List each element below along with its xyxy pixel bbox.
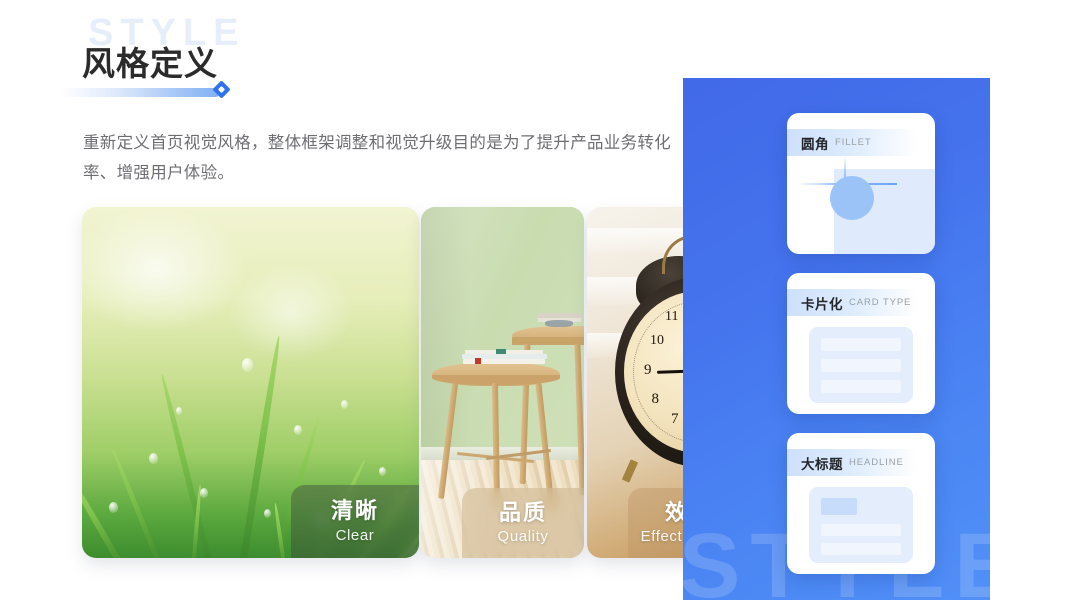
mock-content-bar [821,524,901,536]
spec-title-cn: 圆角 [801,133,829,153]
card-mock-container [809,327,913,403]
label-cn: 品质 [499,499,547,527]
mock-headline-bar [821,498,857,515]
spec-card-body [787,316,935,414]
photo-card-quality[interactable]: 品质 Quality [421,207,584,558]
headline-mock-container [809,487,913,563]
spec-title-en: FILLET [835,137,872,148]
spec-card-header: 圆角 FILLET [787,129,935,156]
photo-card-label-quality: 品质 Quality [462,488,584,558]
label-en: Quality [498,526,549,547]
label-en: Clear [336,525,375,546]
mock-content-bar [821,543,901,555]
spec-card-body [787,156,935,254]
fillet-circle-shape [830,176,874,220]
photo-card-clear[interactable]: 清晰 Clear [82,207,419,558]
spec-card-body [787,476,935,574]
spec-title-en: HEADLINE [849,457,904,468]
mock-content-bar [821,338,901,351]
slide-root: STYLE 风格定义 重新定义首页视觉风格，整体框架调整和视觉升级目的是为了提升… [0,0,1067,600]
intro-paragraph: 重新定义首页视觉风格，整体框架调整和视觉升级目的是为了提升产品业务转化率、增强用… [83,128,673,188]
title-underline-bar [60,88,220,97]
spec-card-header: 大标题 HEADLINE [787,449,935,476]
spec-card-headline[interactable]: 大标题 HEADLINE [787,433,935,574]
page-title: 风格定义 [82,44,218,84]
blue-spec-panel: STYLE 圆角 FILLET 卡片化 CARD TYPE [683,78,990,600]
spec-card-header: 卡片化 CARD TYPE [787,289,935,316]
mock-content-bar [821,380,901,393]
spec-card-card-type[interactable]: 卡片化 CARD TYPE [787,273,935,414]
spec-title-cn: 大标题 [801,453,843,473]
spec-title-cn: 卡片化 [801,293,843,313]
spec-title-en: CARD TYPE [849,297,911,308]
photo-card-label-clear: 清晰 Clear [291,485,419,558]
spec-card-fillet[interactable]: 圆角 FILLET [787,113,935,254]
label-cn: 清晰 [331,497,379,525]
mock-content-bar [821,359,901,372]
